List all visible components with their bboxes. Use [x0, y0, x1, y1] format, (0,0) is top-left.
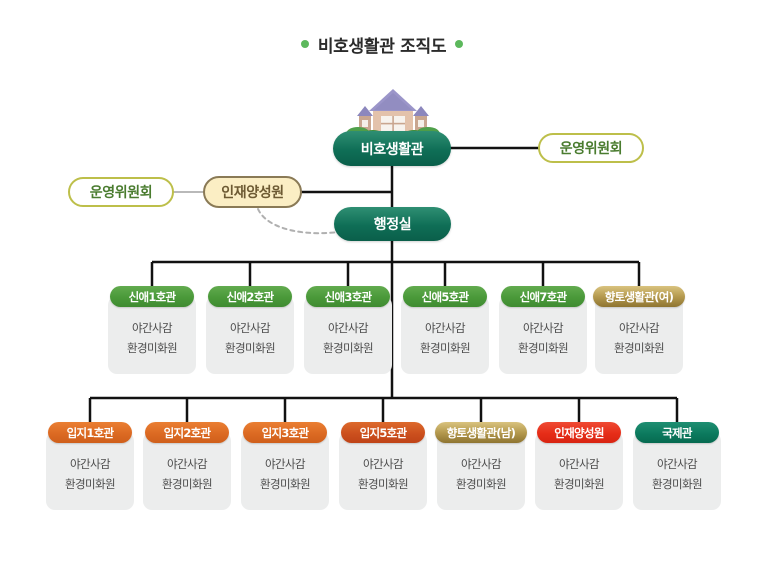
- unit-role: 환경미화원: [499, 338, 587, 358]
- unit-roles: 야간사감 환경미화원: [401, 318, 489, 358]
- unit-role: 야간사감: [535, 454, 623, 474]
- unit-header[interactable]: 입지2호관: [145, 422, 229, 443]
- unit-header[interactable]: 입지1호관: [48, 422, 132, 443]
- unit-role: 야간사감: [437, 454, 525, 474]
- node-admin[interactable]: 행정실: [334, 207, 451, 241]
- org-chart: 비호생활관 조직도: [0, 0, 764, 562]
- unit-role: 환경미화원: [143, 474, 231, 494]
- unit-header[interactable]: 신애5호관: [403, 286, 487, 307]
- unit-role: 야간사감: [401, 318, 489, 338]
- unit-header[interactable]: 인재양성원: [537, 422, 621, 443]
- unit-role: 야간사감: [46, 454, 134, 474]
- unit-role: 야간사감: [633, 454, 721, 474]
- node-root[interactable]: 비호생활관: [333, 131, 451, 166]
- unit-role: 환경미화원: [241, 474, 329, 494]
- unit-role: 야간사감: [339, 454, 427, 474]
- unit-label: 신애7호관: [520, 289, 567, 305]
- unit-header[interactable]: 신애1호관: [110, 286, 194, 307]
- unit-roles: 야간사감 환경미화원: [206, 318, 294, 358]
- unit-roles: 야간사감 환경미화원: [595, 318, 683, 358]
- unit-header[interactable]: 신애7호관: [501, 286, 585, 307]
- unit-role: 야간사감: [206, 318, 294, 338]
- unit-role: 환경미화원: [339, 474, 427, 494]
- unit-label: 신애5호관: [422, 289, 469, 305]
- unit-roles: 야간사감 환경미화원: [304, 318, 392, 358]
- unit-role: 환경미화원: [304, 338, 392, 358]
- unit-label: 입지5호관: [360, 425, 407, 441]
- unit-role: 야간사감: [241, 454, 329, 474]
- node-committee-left-label: 운영위원회: [90, 182, 152, 202]
- unit-roles: 야간사감 환경미화원: [437, 454, 525, 494]
- page-title: 비호생활관 조직도: [0, 32, 764, 57]
- unit-role: 환경미화원: [535, 474, 623, 494]
- node-academy-label: 인재양성원: [221, 182, 283, 202]
- unit-roles: 야간사감 환경미화원: [535, 454, 623, 494]
- unit-label: 향토생활관(여): [605, 289, 673, 305]
- unit-label: 입지3호관: [262, 425, 309, 441]
- node-academy[interactable]: 인재양성원: [203, 176, 302, 208]
- unit-label: 향토생활관(남): [447, 425, 515, 441]
- unit-roles: 야간사감 환경미화원: [108, 318, 196, 358]
- unit-header[interactable]: 입지5호관: [341, 422, 425, 443]
- unit-label: 신애3호관: [325, 289, 372, 305]
- unit-header[interactable]: 입지3호관: [243, 422, 327, 443]
- unit-roles: 야간사감 환경미화원: [339, 454, 427, 494]
- unit-label: 신애2호관: [227, 289, 274, 305]
- unit-label: 신애1호관: [129, 289, 176, 305]
- green-dot-icon: [301, 40, 309, 48]
- unit-role: 야간사감: [304, 318, 392, 338]
- unit-role: 야간사감: [108, 318, 196, 338]
- node-root-label: 비호생활관: [361, 139, 423, 159]
- unit-header[interactable]: 신애2호관: [208, 286, 292, 307]
- unit-role: 환경미화원: [595, 338, 683, 358]
- unit-header[interactable]: 향토생활관(남): [435, 422, 527, 443]
- unit-label: 입지2호관: [164, 425, 211, 441]
- unit-role: 환경미화원: [206, 338, 294, 358]
- unit-role: 환경미화원: [633, 474, 721, 494]
- unit-label: 입지1호관: [67, 425, 114, 441]
- unit-role: 환경미화원: [46, 474, 134, 494]
- unit-header[interactable]: 국제관: [635, 422, 719, 443]
- page-title-text: 비호생활관 조직도: [318, 37, 446, 57]
- unit-roles: 야간사감 환경미화원: [499, 318, 587, 358]
- unit-label: 인재양성원: [554, 425, 603, 441]
- unit-role: 환경미화원: [437, 474, 525, 494]
- unit-label: 국제관: [662, 425, 692, 441]
- unit-roles: 야간사감 환경미화원: [633, 454, 721, 494]
- unit-role: 야간사감: [143, 454, 231, 474]
- node-committee-left[interactable]: 운영위원회: [68, 177, 174, 207]
- node-admin-label: 행정실: [374, 214, 411, 234]
- unit-role: 환경미화원: [401, 338, 489, 358]
- unit-roles: 야간사감 환경미화원: [143, 454, 231, 494]
- unit-header[interactable]: 신애3호관: [306, 286, 390, 307]
- green-dot-icon: [455, 40, 463, 48]
- unit-role: 야간사감: [499, 318, 587, 338]
- unit-header[interactable]: 향토생활관(여): [593, 286, 685, 307]
- unit-role: 야간사감: [595, 318, 683, 338]
- node-committee-right[interactable]: 운영위원회: [538, 133, 644, 163]
- node-committee-right-label: 운영위원회: [560, 138, 622, 158]
- unit-roles: 야간사감 환경미화원: [46, 454, 134, 494]
- unit-role: 환경미화원: [108, 338, 196, 358]
- unit-roles: 야간사감 환경미화원: [241, 454, 329, 494]
